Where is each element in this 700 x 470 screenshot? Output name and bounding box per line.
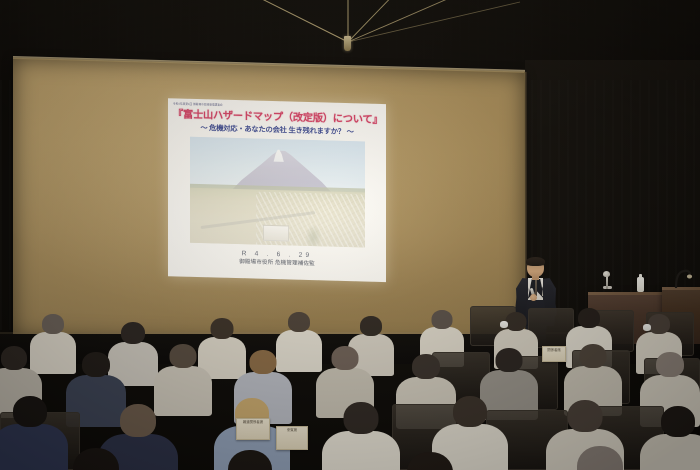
audience-head xyxy=(578,308,600,328)
audience-head xyxy=(82,352,110,377)
water-bottle xyxy=(637,277,644,292)
seat-sign: 来賓席 xyxy=(276,426,308,450)
audience-head xyxy=(432,310,453,329)
presenter-hair xyxy=(526,257,545,266)
audience-head xyxy=(250,350,277,374)
audience-head xyxy=(211,318,234,339)
audience-head xyxy=(580,344,607,368)
seat-sign: 関係者席 xyxy=(542,346,566,362)
microphone-head xyxy=(603,271,610,277)
audience-head xyxy=(407,452,453,470)
audience-head xyxy=(496,348,523,372)
audience-head xyxy=(228,450,272,470)
photo-large-building xyxy=(263,225,289,242)
audience-head xyxy=(656,352,684,377)
audience-head xyxy=(661,406,695,437)
seminar-hall-photo: 令和4年度第1回 御殿場市危機管理講演会 『富士山ハザードマップ（改定版）につい… xyxy=(0,0,700,470)
audience-head xyxy=(73,448,119,470)
seat-sign: 報道関係者席 xyxy=(236,418,270,440)
audience-head xyxy=(288,312,310,332)
seat-sign-label: 報道関係者席 xyxy=(237,419,269,424)
audience: 関係者席 xyxy=(0,300,700,470)
audience-head xyxy=(360,316,382,336)
photo-tree xyxy=(305,224,322,246)
seat-sign-label: 来賓席 xyxy=(277,427,307,432)
audience-head xyxy=(1,346,27,370)
audience-head xyxy=(412,354,440,379)
audience-head xyxy=(121,322,145,344)
audience-head xyxy=(170,344,197,368)
microphone-stand-pole xyxy=(606,275,608,289)
face-mask xyxy=(643,324,651,331)
projected-slide: 令和4年度第1回 御殿場市危機管理講演会 『富士山ハザードマップ（改定版）につい… xyxy=(168,98,386,282)
slide-photo-mount-fuji xyxy=(190,137,365,248)
audience-member xyxy=(202,450,298,470)
gooseneck-microphone xyxy=(672,268,694,288)
audience-head xyxy=(577,446,623,470)
audience-head xyxy=(332,346,359,370)
audience-head xyxy=(453,396,487,427)
face-mask xyxy=(500,321,508,328)
audience-head xyxy=(120,404,156,437)
audience-head xyxy=(13,396,47,427)
audience-member xyxy=(380,452,480,470)
slide-footer: R 4 . 6 . 29 御殿場市役所 危機管理補佐監 xyxy=(173,247,381,270)
audience-head xyxy=(42,314,64,334)
seat-sign-label: 関係者席 xyxy=(543,347,565,352)
audience-member xyxy=(550,446,650,470)
hanging-light-fixture xyxy=(344,36,351,51)
audience-head xyxy=(344,402,379,434)
audience-head xyxy=(568,400,603,432)
audience-head xyxy=(648,314,670,334)
audience-head xyxy=(506,312,527,331)
audience-member xyxy=(46,448,146,470)
